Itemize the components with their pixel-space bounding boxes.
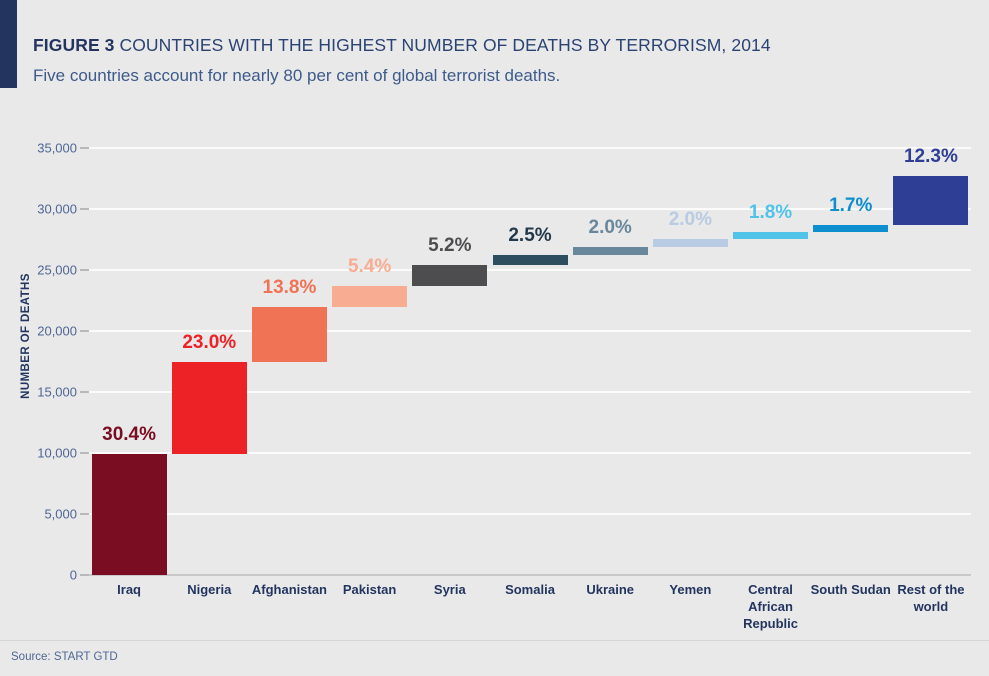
bar-data-label: 5.4% <box>348 256 391 278</box>
x-axis-baseline <box>89 575 971 576</box>
bar[interactable] <box>733 232 808 239</box>
chart-plot-area: NUMBER OF DEATHS 05,00010,00015,00020,00… <box>0 0 989 676</box>
bar[interactable] <box>573 247 648 255</box>
bar-data-label: 1.7% <box>829 195 872 217</box>
x-axis-tick-label: Afghanistan <box>245 581 333 598</box>
y-axis-tick-mark <box>80 452 89 454</box>
gridline <box>89 147 971 149</box>
bar[interactable] <box>252 307 327 362</box>
y-axis-tick-label: 0 <box>5 568 77 583</box>
bar[interactable] <box>332 286 407 308</box>
bar[interactable] <box>412 265 487 286</box>
source-note: Source: START GTD <box>11 651 118 663</box>
footer-divider <box>0 640 989 641</box>
y-axis-tick-mark <box>80 208 89 210</box>
bar[interactable] <box>653 239 728 247</box>
bar-data-label: 2.0% <box>589 217 632 239</box>
x-axis-tick-label: Central African Republic <box>726 581 814 632</box>
bar[interactable] <box>493 255 568 265</box>
bar[interactable] <box>813 225 888 232</box>
bar-data-label: 1.8% <box>749 202 792 224</box>
x-axis-tick-label: Rest of the world <box>887 581 975 615</box>
y-axis-tick-label: 30,000 <box>5 202 77 217</box>
y-axis-tick-label: 10,000 <box>5 446 77 461</box>
y-axis-tick-label: 15,000 <box>5 385 77 400</box>
x-axis-tick-label: Yemen <box>646 581 734 598</box>
x-axis-tick-label: Somalia <box>486 581 574 598</box>
bar-data-label: 5.2% <box>428 235 471 257</box>
y-axis-tick-mark <box>80 147 89 149</box>
gridline <box>89 269 971 271</box>
gridline <box>89 513 971 515</box>
bar-data-label: 2.5% <box>508 225 551 247</box>
x-axis-tick-label: South Sudan <box>807 581 895 598</box>
x-axis-tick-label: Pakistan <box>326 581 414 598</box>
x-axis-tick-label: Ukraine <box>566 581 654 598</box>
bar[interactable] <box>893 176 968 225</box>
y-axis-tick-label: 25,000 <box>5 263 77 278</box>
y-axis-tick-mark <box>80 330 89 332</box>
y-axis-tick-mark <box>80 513 89 515</box>
y-axis-tick-label: 35,000 <box>5 141 77 156</box>
y-axis-tick-label: 20,000 <box>5 324 77 339</box>
bar[interactable] <box>172 362 247 454</box>
bar-data-label: 2.0% <box>669 209 712 231</box>
bar-data-label: 30.4% <box>102 424 156 446</box>
bar-data-label: 12.3% <box>904 146 958 168</box>
y-axis-tick-mark <box>80 269 89 271</box>
x-axis-tick-label: Iraq <box>85 581 173 598</box>
y-axis-tick-label: 5,000 <box>5 507 77 522</box>
y-axis-tick-mark <box>80 574 89 576</box>
x-axis-tick-label: Syria <box>406 581 494 598</box>
bar[interactable] <box>92 454 167 575</box>
x-axis-tick-label: Nigeria <box>165 581 253 598</box>
bar-data-label: 23.0% <box>182 332 236 354</box>
bar-data-label: 13.8% <box>263 277 317 299</box>
y-axis-tick-mark <box>80 391 89 393</box>
